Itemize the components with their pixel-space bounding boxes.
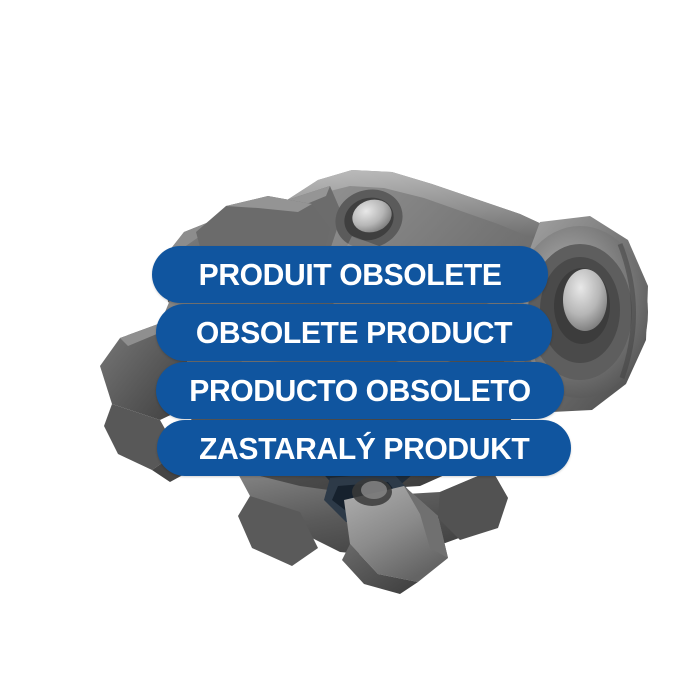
banner-label-cs: ZASTARALÝ PRODUKT <box>199 433 529 464</box>
banner-producto-obsoleto: PRODUCTO OBSOLETO <box>156 362 564 419</box>
obsolete-banner-stack: PRODUIT OBSOLETE OBSOLETE PRODUCT PRODUC… <box>0 243 700 479</box>
banner-obsolete-product: OBSOLETE PRODUCT <box>156 304 552 361</box>
obsolete-product-banner-image: PRODUIT OBSOLETE OBSOLETE PRODUCT PRODUC… <box>0 0 700 700</box>
banner-produit-obsolete: PRODUIT OBSOLETE <box>152 246 548 303</box>
banner-zastaraly-produkt: ZASTARALÝ PRODUKT <box>157 420 571 476</box>
lower-jaw <box>236 470 508 594</box>
banner-label-es: PRODUCTO OBSOLETO <box>189 375 530 406</box>
banner-label-fr: PRODUIT OBSOLETE <box>199 259 502 290</box>
banner-label-en: OBSOLETE PRODUCT <box>196 317 512 348</box>
